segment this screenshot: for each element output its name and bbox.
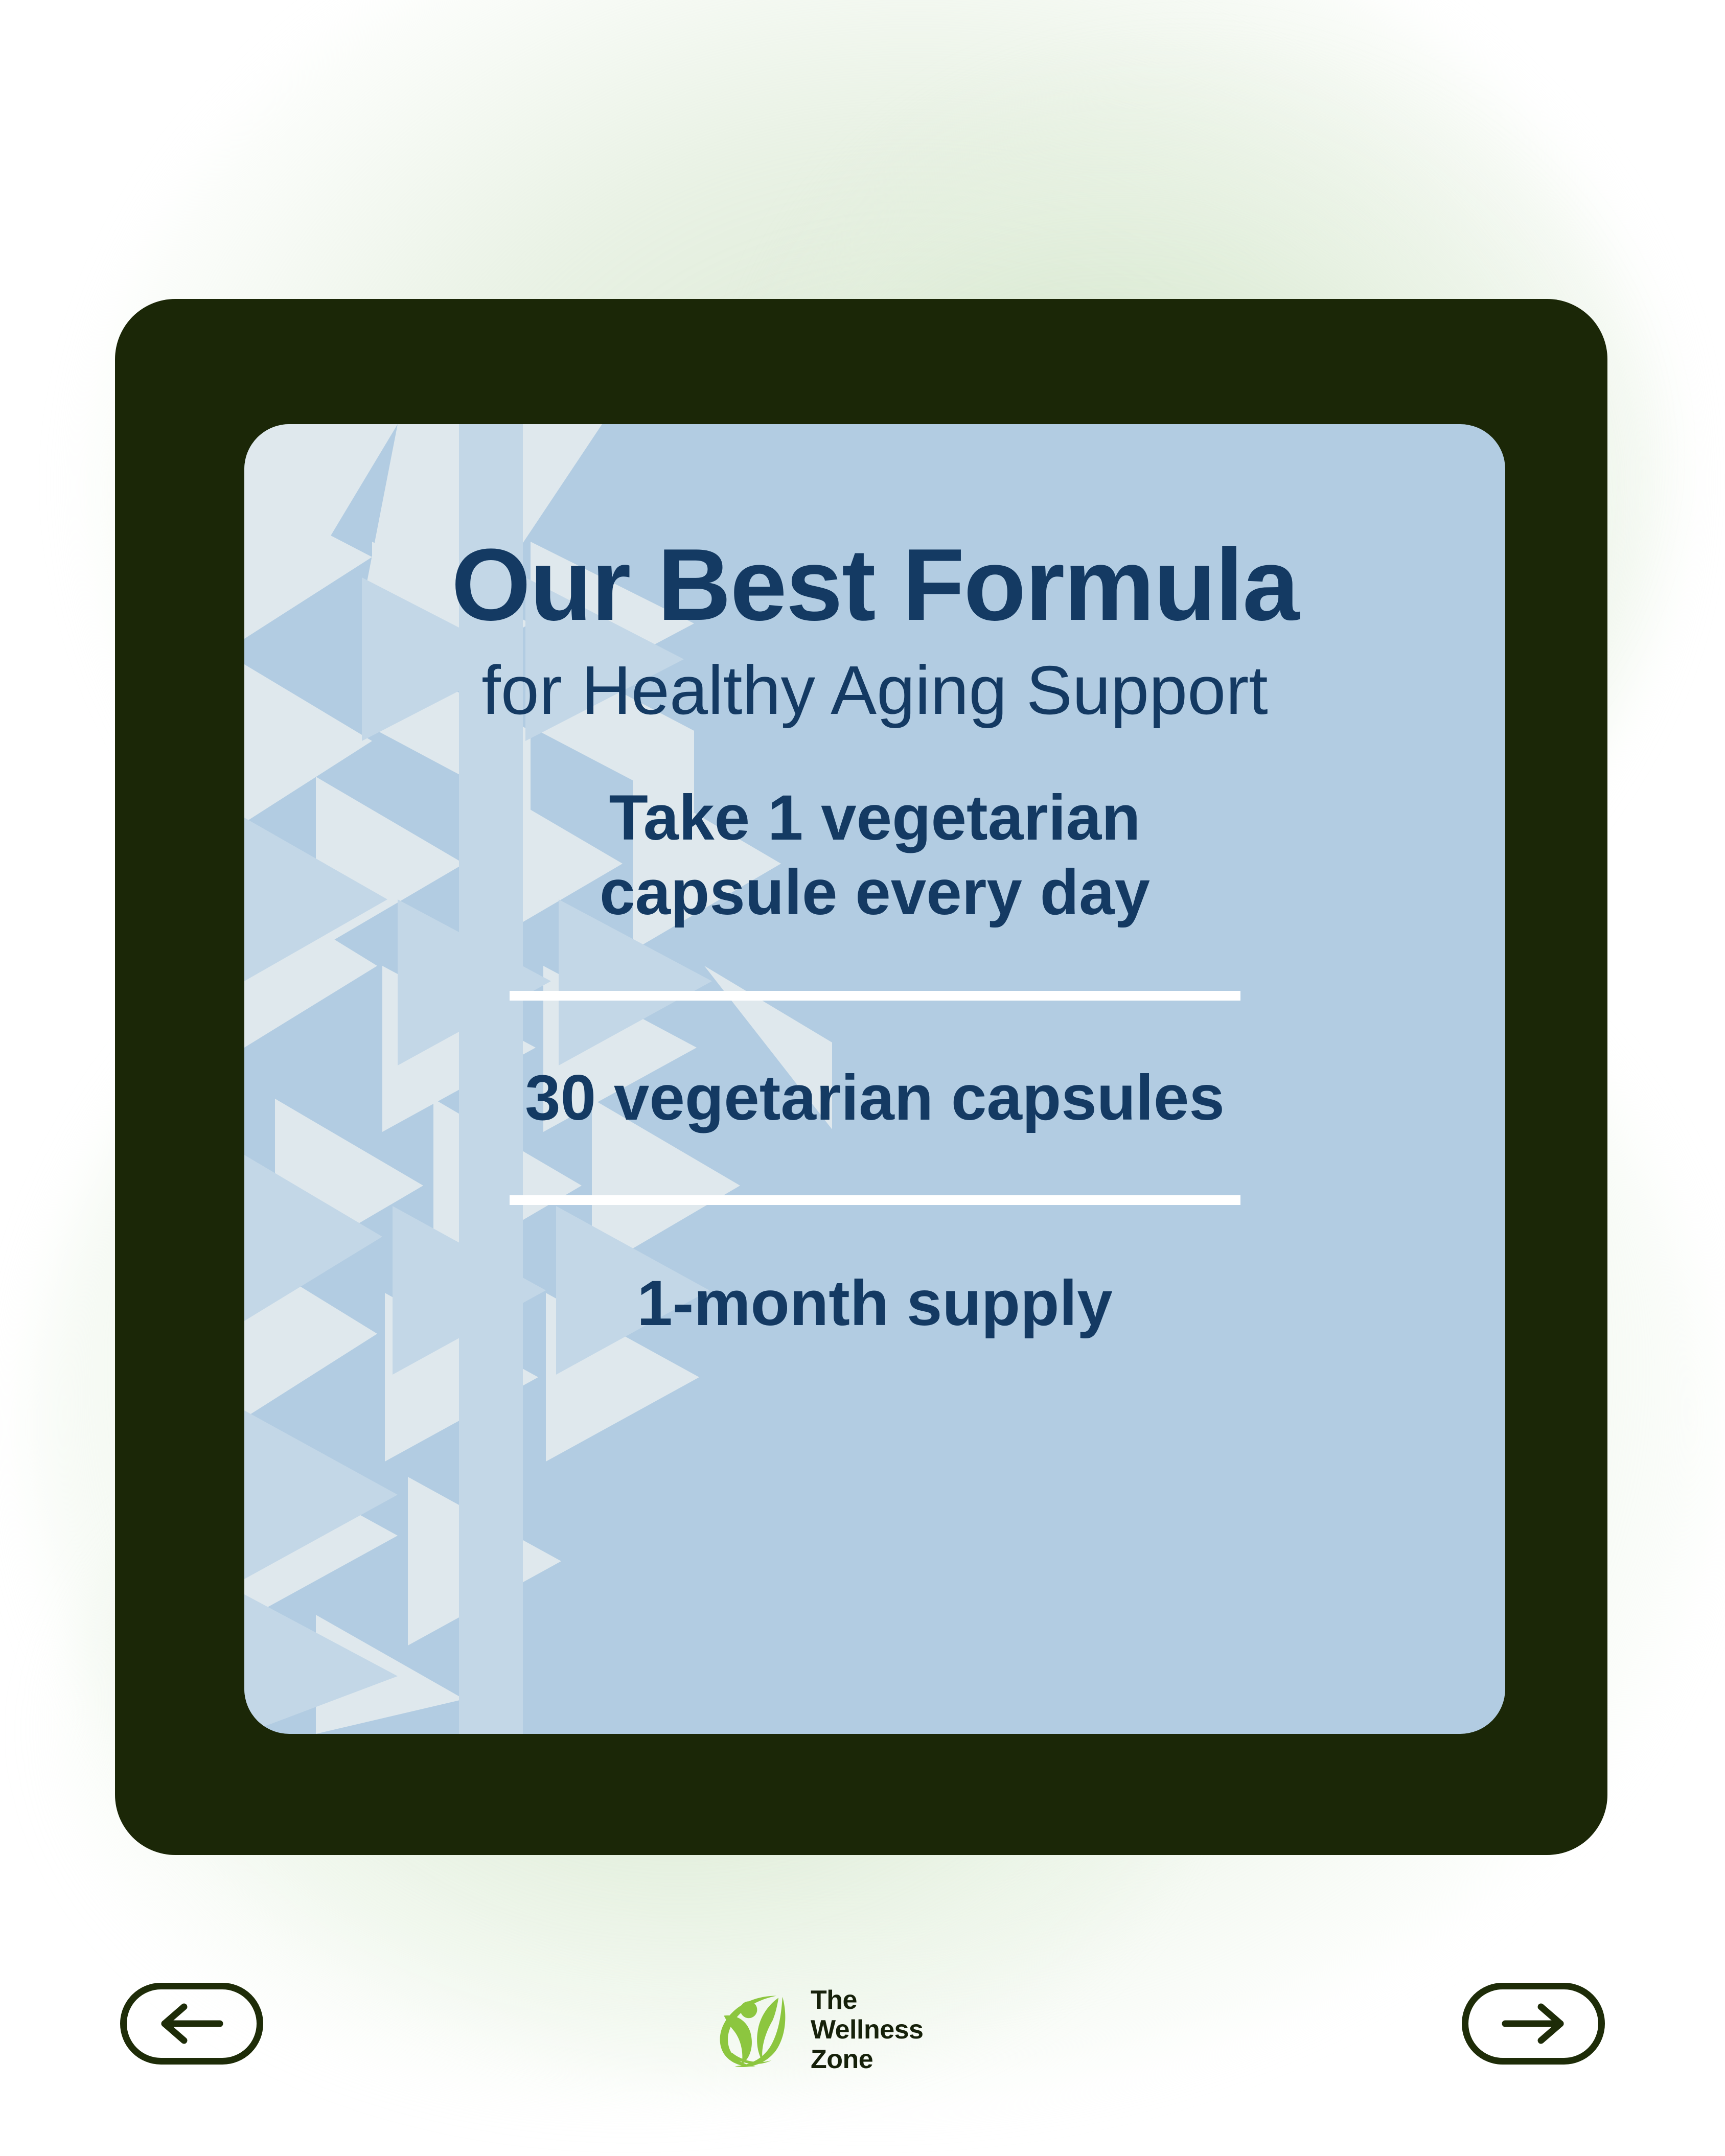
- product-info-card: Our Best Formula for Healthy Aging Suppo…: [244, 424, 1505, 1734]
- dosage-line-1: Take 1 vegetarian: [600, 781, 1150, 855]
- dosage-line-2: capsule every day: [600, 855, 1150, 930]
- brand-logo: The Wellness Zone: [713, 1979, 1020, 2081]
- supply-duration: 1-month supply: [637, 1271, 1113, 1335]
- brand-line-1: The: [811, 1985, 923, 2015]
- card-content: Our Best Formula for Healthy Aging Suppo…: [244, 424, 1505, 1734]
- card-title: Our Best Formula: [451, 534, 1298, 636]
- brand-line-3: Zone: [811, 2045, 923, 2074]
- capsule-count: 30 vegetarian capsules: [525, 1066, 1225, 1130]
- footer-bar: The Wellness Zone: [0, 1983, 1725, 2131]
- arrow-right-icon: [1495, 2001, 1572, 2047]
- divider-bottom: [510, 1195, 1240, 1205]
- brand-line-2: Wellness: [811, 2015, 923, 2045]
- dosage-instruction: Take 1 vegetarian capsule every day: [600, 781, 1150, 931]
- arrow-left-icon: [153, 2001, 230, 2047]
- previous-slide-button[interactable]: [120, 1983, 263, 2065]
- product-card-frame: Our Best Formula for Healthy Aging Suppo…: [115, 299, 1607, 1855]
- card-subtitle: for Healthy Aging Support: [481, 656, 1268, 725]
- next-slide-button[interactable]: [1462, 1983, 1605, 2065]
- leaf-person-circle-icon: [713, 1988, 797, 2072]
- brand-wordmark: The Wellness Zone: [811, 1985, 923, 2075]
- divider-top: [510, 991, 1240, 1001]
- slide-canvas: Our Best Formula for Healthy Aging Suppo…: [0, 0, 1725, 2156]
